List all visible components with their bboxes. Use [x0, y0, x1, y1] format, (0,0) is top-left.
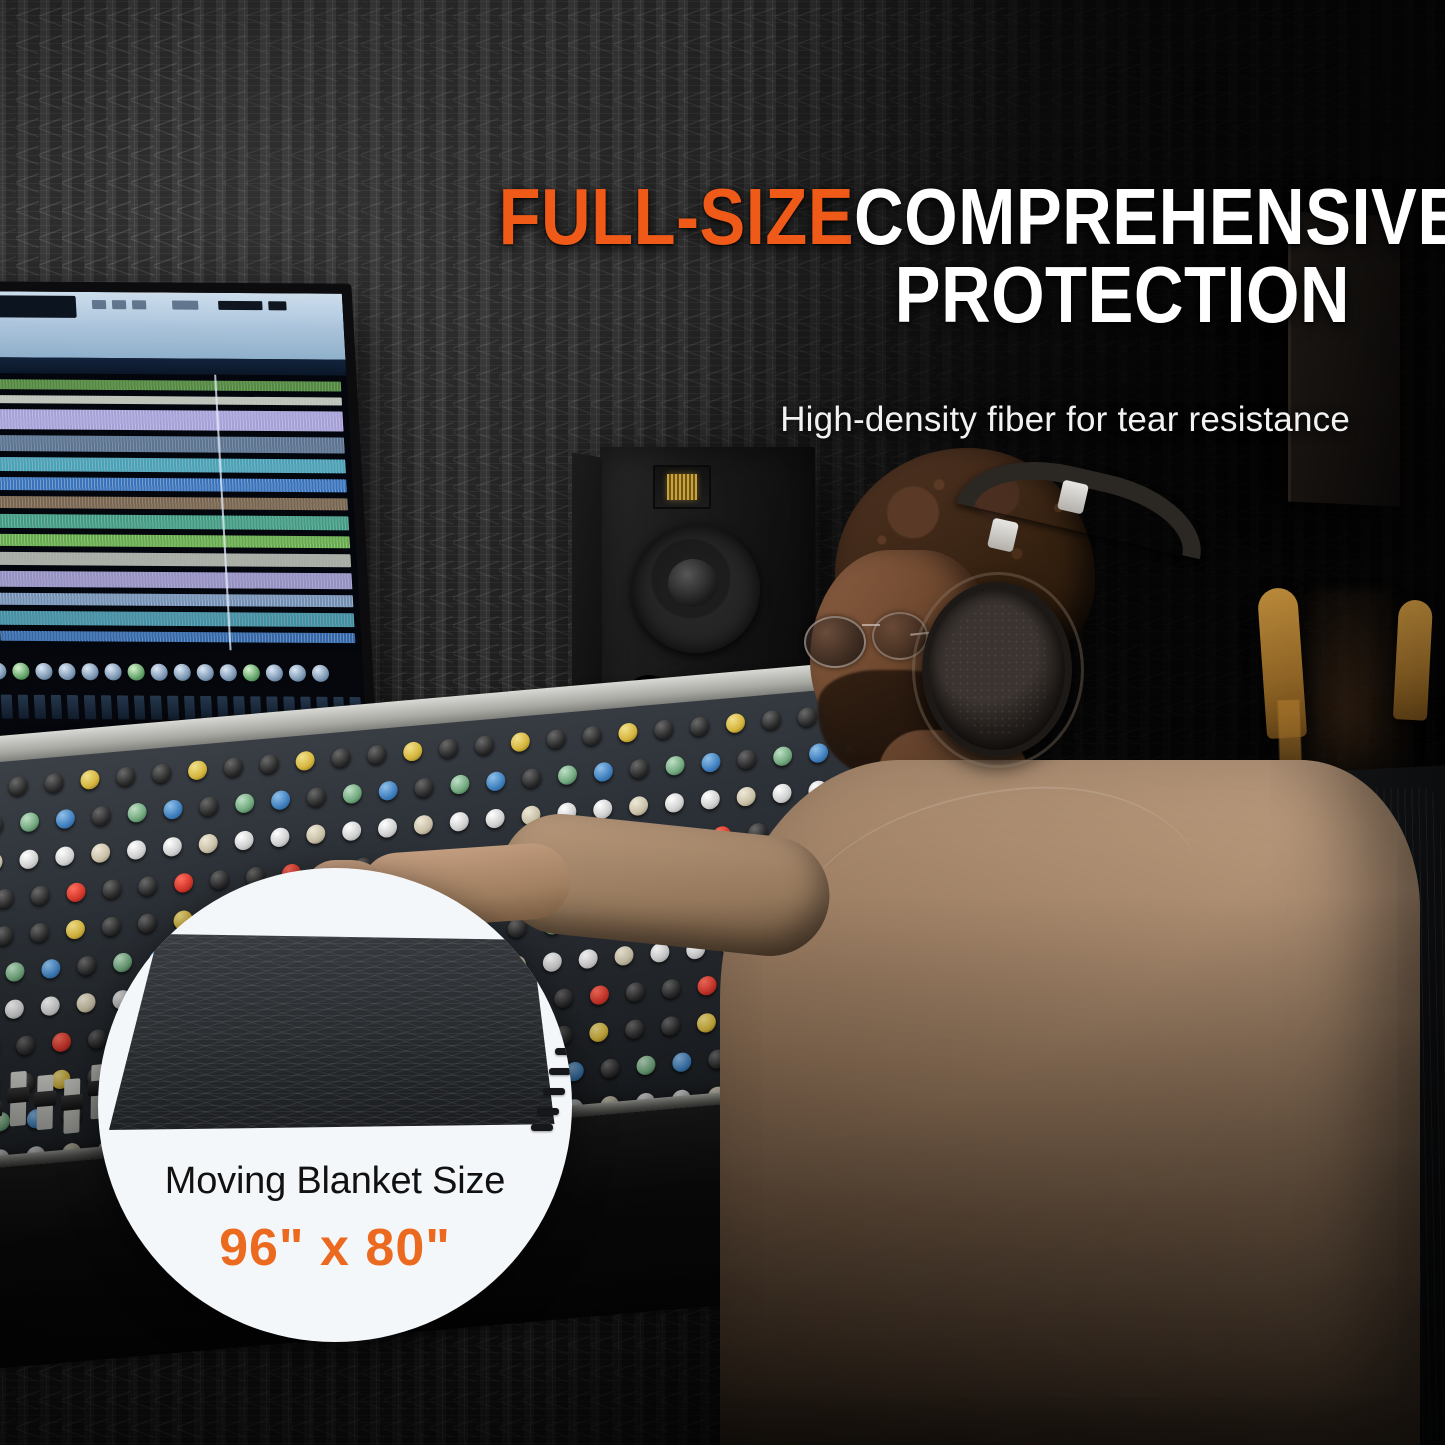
blanket-binding-tab — [561, 1028, 572, 1035]
daw-toolbar — [0, 291, 346, 360]
daw-mixer-fader — [184, 696, 196, 720]
daw-mixer-fader — [84, 695, 96, 719]
daw-mixer-knob — [81, 663, 99, 680]
console-knob — [127, 840, 146, 861]
console-knob — [589, 1022, 608, 1043]
daw-waveform — [0, 409, 344, 432]
blanket-binding-tab — [537, 1108, 559, 1115]
computer-monitor — [0, 281, 378, 753]
daw-waveform — [0, 631, 355, 643]
daw-mixer-knob — [196, 664, 214, 681]
console-knob — [55, 846, 74, 867]
console-knob — [379, 780, 398, 801]
daw-toolbar-button — [112, 300, 127, 309]
console-knob — [66, 882, 85, 903]
headline-line-2: PROTECTION — [499, 256, 1350, 334]
console-knob — [0, 815, 3, 836]
console-knob — [629, 796, 648, 817]
console-knob — [403, 741, 422, 762]
daw-audio-track — [0, 610, 354, 627]
moving-blanket — [109, 934, 559, 1130]
console-knob — [210, 869, 229, 890]
sunglasses-bridge — [862, 624, 880, 626]
console-knob — [614, 945, 633, 966]
daw-waveform — [0, 534, 350, 549]
console-knob — [91, 843, 110, 864]
daw-software-screen — [0, 291, 367, 743]
console-knob — [307, 787, 326, 808]
blanket-binding-tab — [543, 968, 565, 975]
daw-mixer-knob — [58, 663, 76, 680]
console-knob — [271, 790, 290, 811]
daw-audio-track — [0, 592, 353, 607]
daw-waveform — [0, 379, 341, 392]
daw-waveform — [0, 571, 352, 590]
daw-mixer-fader — [150, 696, 162, 720]
console-knob — [331, 747, 350, 768]
daw-audio-track — [0, 552, 351, 567]
console-knob — [66, 919, 85, 940]
daw-mixer-fader — [67, 695, 79, 719]
console-knob — [77, 955, 96, 976]
console-knob — [522, 768, 541, 789]
console-knob — [590, 985, 609, 1006]
console-knob — [343, 784, 362, 805]
console-knob — [600, 1058, 619, 1079]
daw-audio-track — [0, 379, 341, 392]
console-knob — [0, 925, 13, 946]
console-knob — [636, 1055, 655, 1076]
console-knob — [116, 766, 135, 787]
console-knob — [76, 993, 95, 1014]
console-knob — [80, 769, 99, 790]
headline-line-1: FULL-SIZECOMPREHENSIVE — [499, 178, 1350, 256]
console-knob — [547, 729, 566, 750]
console-knob — [163, 799, 182, 820]
console-knob — [163, 836, 182, 857]
daw-waveform — [0, 457, 346, 474]
console-knob — [414, 814, 433, 835]
daw-mixer-knob — [35, 663, 53, 680]
headline-block: FULL-SIZECOMPREHENSIVE PROTECTION — [360, 178, 1350, 333]
console-knob — [20, 812, 39, 833]
console-knob — [16, 1035, 35, 1056]
daw-mixer-fader — [134, 696, 146, 720]
daw-audio-track — [0, 409, 344, 432]
console-knob — [0, 852, 3, 873]
console-knob — [224, 757, 243, 778]
daw-audio-track — [0, 457, 346, 474]
console-knob — [342, 821, 361, 842]
daw-mixer-knobs — [0, 662, 360, 682]
console-fader — [10, 1071, 27, 1127]
daw-mixer-fader — [34, 695, 46, 719]
console-knob — [306, 824, 325, 845]
console-knob — [450, 774, 469, 795]
headline-accent-word: FULL-SIZE — [499, 172, 854, 261]
console-knob — [44, 772, 63, 793]
daw-audio-track — [0, 514, 349, 531]
daw-toolbar-button — [172, 301, 199, 310]
daw-mixer-fader — [117, 695, 129, 719]
console-knob — [138, 876, 157, 897]
product-marketing-image: FULL-SIZECOMPREHENSIVE PROTECTION High-d… — [0, 0, 1445, 1445]
badge-size-value: 96" x 80" — [98, 1218, 572, 1278]
blanket-binding-tab — [537, 948, 559, 955]
daw-toolbar-button — [132, 300, 147, 309]
daw-audio-track — [0, 631, 355, 643]
daw-mixer-knob — [0, 663, 7, 680]
console-knob — [234, 830, 253, 851]
daw-audio-track — [0, 395, 342, 405]
daw-waveform — [0, 592, 353, 607]
daw-audio-track — [0, 477, 347, 492]
console-knob — [188, 760, 207, 781]
console-knob — [511, 732, 530, 753]
daw-mixer-knob — [219, 664, 237, 681]
daw-transport-display — [0, 295, 77, 318]
daw-track-list — [0, 373, 362, 651]
console-knob — [594, 762, 613, 783]
daw-toolbar-button — [218, 301, 263, 310]
daw-waveform — [0, 552, 351, 567]
console-knob — [0, 888, 14, 909]
blanket-binding-tab — [543, 1088, 565, 1095]
daw-mixer-knob — [12, 663, 30, 680]
daw-mixer-fader — [51, 695, 63, 719]
blanket-binding-tab — [549, 1068, 571, 1075]
daw-mixer-knob — [288, 665, 306, 682]
daw-waveform — [0, 477, 347, 492]
daw-mixer-knob — [265, 664, 283, 681]
daw-waveform — [0, 496, 348, 511]
daw-waveform — [0, 395, 342, 405]
console-knob — [5, 999, 24, 1020]
console-knob — [102, 879, 121, 900]
console-fader — [63, 1078, 80, 1134]
console-knob — [296, 750, 315, 771]
console-knob — [56, 809, 75, 830]
console-knob — [582, 725, 601, 746]
daw-toolbar-button — [268, 301, 287, 310]
console-knob — [260, 754, 279, 775]
daw-mixer-fader — [100, 695, 112, 719]
console-knob — [41, 996, 60, 1017]
console-knob — [630, 758, 649, 779]
console-knob — [618, 722, 637, 743]
daw-audio-track — [0, 571, 352, 590]
daw-waveform — [0, 514, 349, 531]
console-knob — [128, 802, 147, 823]
console-knob — [19, 849, 38, 870]
console-knob — [174, 873, 193, 894]
console-knob — [9, 776, 28, 797]
subheadline: High-density fiber for tear resistance — [360, 400, 1350, 440]
blanket-binding-tab — [555, 1008, 572, 1015]
console-knob — [235, 793, 254, 814]
console-knob — [626, 982, 645, 1003]
console-knob — [378, 818, 397, 839]
console-knob — [625, 1019, 644, 1040]
blanket-binding-tab — [555, 1048, 572, 1055]
console-knob — [30, 922, 49, 943]
console-knob — [579, 949, 598, 970]
console-knob — [152, 763, 171, 784]
daw-mixer-knob — [150, 664, 168, 681]
console-knob — [450, 811, 469, 832]
daw-waveform — [0, 435, 345, 454]
daw-mixer-knob — [127, 664, 145, 681]
daw-toolbar-button — [92, 300, 107, 309]
daw-mixer-knob — [173, 664, 191, 681]
daw-mixer-fader — [167, 696, 179, 720]
console-knob — [475, 735, 494, 756]
daw-mixer-fader — [1, 695, 13, 719]
headphone-earcup-ring — [912, 572, 1084, 768]
blanket-product-photo — [103, 926, 568, 1141]
console-knob — [367, 744, 386, 765]
daw-audio-track — [0, 534, 350, 549]
blanket-binding-tab — [531, 1124, 553, 1131]
sunglasses-lens-left — [804, 616, 866, 668]
console-knob — [92, 805, 111, 826]
daw-audio-track — [0, 496, 348, 511]
console-knob — [486, 771, 505, 792]
console-knob — [414, 777, 433, 798]
blanket-quilt-stitching — [109, 934, 559, 1130]
badge-title: Moving Blanket Size — [98, 1160, 572, 1203]
console-knob — [558, 765, 577, 786]
console-knob — [31, 885, 50, 906]
daw-mixer-fader — [17, 695, 29, 719]
console-knob — [485, 808, 504, 829]
daw-audio-track — [0, 435, 345, 454]
console-knob — [41, 958, 60, 979]
audio-engineer — [660, 430, 1420, 1445]
console-knob — [52, 1032, 71, 1053]
daw-mixer-knob — [104, 663, 122, 680]
console-fader — [37, 1075, 54, 1131]
daw-mixer-knob — [311, 665, 329, 682]
blanket-binding-tab — [549, 988, 571, 995]
console-knob — [5, 962, 24, 983]
daw-waveform — [0, 610, 354, 627]
headline-line-1-rest: COMPREHENSIVE — [854, 172, 1445, 261]
console-knob — [199, 833, 218, 854]
daw-mixer-knob — [242, 664, 260, 681]
console-knob — [270, 827, 289, 848]
console-knob — [199, 796, 218, 817]
daw-toolbar-icons — [0, 321, 345, 354]
console-knob — [439, 738, 458, 759]
console-knob — [593, 799, 612, 820]
